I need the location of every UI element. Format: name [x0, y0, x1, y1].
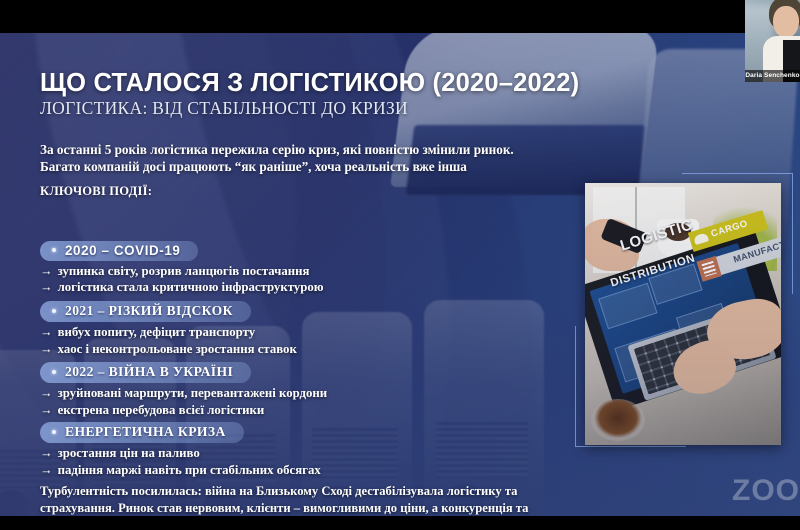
event-heading-pill: 2021 – РІЗКИЙ ВІДСКОК [40, 301, 251, 322]
event-block-energy-crisis: ЕНЕРГЕТИЧНА КРИЗА → зростання цін на пал… [40, 421, 321, 478]
inset-photo-frame: LOGISTIC DISTRIBUTION CARGO MANUFACTU [575, 173, 793, 455]
zoom-watermark: ZOO [732, 474, 800, 508]
event-heading-pill: 2022 – ВІЙНА В УКРАЇНІ [40, 362, 251, 383]
event-heading-label: ЕНЕРГЕТИЧНА КРИЗА [65, 424, 226, 440]
key-events-label: КЛЮЧОВІ ПОДІЇ: [40, 184, 152, 199]
participant-name-label: Daria Senchenko [745, 70, 800, 82]
slide-title: ЩО СТАЛОСЯ З ЛОГІСТИКОЮ (2020–2022) [40, 69, 579, 98]
lead-line-2: Багато компаній досі працюють “як раніше… [40, 158, 560, 175]
arrow-icon: → [40, 402, 53, 419]
event-point: → зупинка світу, розрив ланцюгів постача… [40, 263, 324, 280]
event-point-text: падіння маржі навіть при стабільних обся… [58, 462, 321, 479]
event-heading-label: 2021 – РІЗКИЙ ВІДСКОК [65, 303, 233, 319]
event-heading-pill: ЕНЕРГЕТИЧНА КРИЗА [40, 422, 244, 443]
outro-line-1: Турбулентність посилилась: війна на Близ… [40, 483, 650, 500]
event-points: → вибух попиту, дефіцит транспорту → хао… [40, 324, 297, 357]
slide-lead-paragraph: За останні 5 років логістика пережила се… [40, 141, 560, 175]
event-point-text: хаос і неконтрольоване зростання ставок [58, 341, 297, 358]
event-point: → вибух попиту, дефіцит транспорту [40, 324, 297, 341]
event-heading-label: 2020 – COVID-19 [65, 243, 180, 258]
slide-closing-paragraph: Турбулентність посилилась: війна на Близ… [40, 483, 650, 516]
event-points: → зруйновані маршрути, перевантажені кор… [40, 385, 327, 418]
arrow-icon: → [40, 279, 53, 296]
event-point: → екстрена перебудова всієї логістики [40, 402, 327, 419]
arrow-icon: → [40, 324, 53, 341]
event-point-text: зруйновані маршрути, перевантажені кордо… [58, 385, 328, 402]
event-point-text: логістика стала критичною інфраструктуро… [58, 279, 324, 296]
event-point-text: екстрена перебудова всієї логістики [58, 402, 265, 419]
bullet-dot-icon [52, 370, 56, 374]
event-points: → зупинка світу, розрив ланцюгів постача… [40, 263, 324, 296]
arrow-icon: → [40, 385, 53, 402]
event-block-2022: 2022 – ВІЙНА В УКРАЇНІ → зруйновані марш… [40, 361, 327, 418]
event-point-text: зростання цін на паливо [58, 445, 200, 462]
event-point: → зруйновані маршрути, перевантажені кор… [40, 385, 327, 402]
event-point: → зростання цін на паливо [40, 445, 321, 462]
zoom-screen-share-view: ЩО СТАЛОСЯ З ЛОГІСТИКОЮ (2020–2022) ЛОГІ… [0, 0, 800, 530]
bullet-dot-icon [52, 309, 56, 313]
outro-line-2: страхування. Ринок став нервовим, клієнт… [40, 500, 650, 516]
slide-subtitle: ЛОГІСТИКА: ВІД СТАБІЛЬНОСТІ ДО КРИЗИ [40, 98, 408, 119]
arrow-icon: → [40, 445, 53, 462]
photo-tint-overlay [585, 183, 781, 445]
participant-face [773, 6, 799, 38]
arrow-icon: → [40, 462, 53, 479]
event-point: → падіння маржі навіть при стабільних об… [40, 462, 321, 479]
lead-line-1: За останні 5 років логістика пережила се… [40, 141, 560, 158]
event-points: → зростання цін на паливо → падіння марж… [40, 445, 321, 478]
arrow-icon: → [40, 263, 53, 280]
inset-photo-logistics-laptop: LOGISTIC DISTRIBUTION CARGO MANUFACTU [585, 183, 781, 445]
presentation-slide: ЩО СТАЛОСЯ З ЛОГІСТИКОЮ (2020–2022) ЛОГІ… [0, 33, 800, 516]
event-point: → хаос і неконтрольоване зростання ставо… [40, 341, 297, 358]
participant-video-tile[interactable]: Daria Senchenko [745, 0, 800, 82]
event-point: → логістика стала критичною інфраструкту… [40, 279, 324, 296]
arrow-icon: → [40, 341, 53, 358]
event-block-2021: 2021 – РІЗКИЙ ВІДСКОК → вибух попиту, де… [40, 300, 297, 357]
slide-content: ЩО СТАЛОСЯ З ЛОГІСТИКОЮ (2020–2022) ЛОГІ… [0, 33, 800, 516]
event-point-text: зупинка світу, розрив ланцюгів постачанн… [58, 263, 310, 280]
event-point-text: вибух попиту, дефіцит транспорту [58, 324, 256, 341]
bullet-dot-icon [52, 430, 56, 434]
bullet-dot-icon [52, 248, 56, 252]
event-block-2020: 2020 – COVID-19 → зупинка світу, розрив … [40, 239, 324, 296]
event-heading-pill: 2020 – COVID-19 [40, 241, 198, 261]
event-heading-label: 2022 – ВІЙНА В УКРАЇНІ [65, 364, 233, 380]
